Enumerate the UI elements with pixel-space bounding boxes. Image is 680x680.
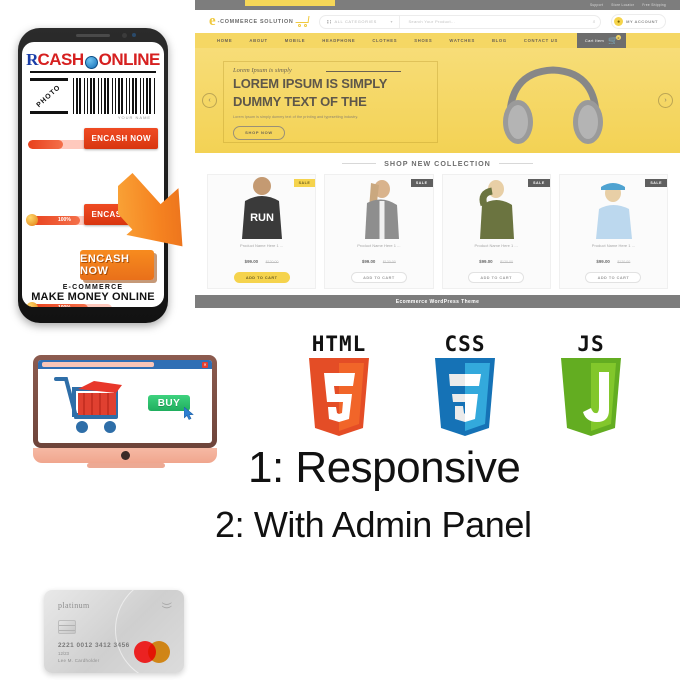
status-badge: SALE xyxy=(411,179,433,187)
add-to-cart-button[interactable]: ADD TO CART xyxy=(234,272,290,283)
buy-button-label: BUY xyxy=(158,398,181,409)
product-name: Product Name Here 1 ... xyxy=(560,243,667,248)
html5-logo-icon xyxy=(303,358,375,438)
pointing-arrow-icon xyxy=(118,165,198,260)
monitor-base xyxy=(87,463,165,468)
close-icon[interactable]: ✕ xyxy=(202,362,208,368)
hero-script-text: Lorem Ipsum is simply xyxy=(233,67,433,74)
price-old: $120.00 xyxy=(500,260,513,264)
site-logo[interactable]: e -COMMERCE SOLUTION xyxy=(209,14,309,29)
product-card[interactable]: SALE RUN Product Name Here 1 ... $99.00 … xyxy=(207,174,316,289)
product-grid: SALE RUN Product Name Here 1 ... $99.00 … xyxy=(195,168,680,289)
site-navigation: HOME ABOUT MOBILE HEADPHONE CLOTHES SHOE… xyxy=(195,33,680,48)
search-icon[interactable]: ⌕ xyxy=(588,19,600,25)
css3-logo-icon xyxy=(429,358,501,438)
topbar-link-support[interactable]: Support xyxy=(590,3,603,7)
nav-item-blog[interactable]: BLOG xyxy=(492,38,507,43)
topbar-link-store-locator[interactable]: Store Locator xyxy=(611,3,634,7)
logo-cash: CASH xyxy=(37,50,83,70)
topbar-link-free-shipping[interactable]: Free Shipping xyxy=(642,3,666,7)
category-select[interactable]: ALL CATEGORIES ▾ xyxy=(320,16,400,28)
status-badge: SALE xyxy=(528,179,550,187)
product-name: Product Name Here 1 ... xyxy=(443,243,550,248)
card-expiry: 12/23 xyxy=(58,651,69,656)
collection-title-text: SHOP NEW COLLECTION xyxy=(384,159,491,168)
id-card: PHOTO YOUR NAME xyxy=(22,73,164,120)
my-account-label: MY ACCOUNT xyxy=(626,19,658,24)
logo-mark: e xyxy=(209,14,216,29)
feature-line-2: 2: With Admin Panel xyxy=(215,504,532,546)
feature-line-1: 1: Responsive xyxy=(248,443,520,493)
shop-now-button[interactable]: SHOP NOW xyxy=(233,126,285,140)
browser-bar: ✕ xyxy=(38,360,212,369)
mastercard-icon xyxy=(134,641,172,663)
my-account-button[interactable]: ● MY ACCOUNT xyxy=(611,14,666,29)
search-input[interactable]: Search Your Product... xyxy=(400,19,588,24)
user-icon: ● xyxy=(614,17,623,26)
chevron-down-icon: ▾ xyxy=(390,19,392,24)
globe-icon xyxy=(85,56,98,69)
headphones-icon xyxy=(498,58,608,146)
product-name: Product Name Here 1 ... xyxy=(208,243,315,248)
barcode-icon xyxy=(73,78,156,114)
logo-r: R xyxy=(26,50,37,70)
price-current: $99.00 xyxy=(479,259,492,264)
make-money-online-label: MAKE MONEY ONLINE xyxy=(22,291,164,303)
nav-item-contact-us[interactable]: CONTACT US xyxy=(524,38,558,43)
desktop-monitor-mockup: ✕ BUY xyxy=(25,355,225,470)
product-price: $99.00 $120.00 xyxy=(325,250,432,268)
nav-item-shoes[interactable]: SHOES xyxy=(414,38,432,43)
phone-camera-icon xyxy=(122,33,127,38)
progress-label: 100% xyxy=(58,217,71,223)
html5-logo: HTML xyxy=(300,332,378,444)
ecommerce-website-mockup: Support Store Locator Free Shipping e -C… xyxy=(195,0,680,330)
product-price: $99.00 $120.00 xyxy=(208,250,315,268)
logo-online: ONLINE xyxy=(99,50,160,70)
grid-icon xyxy=(327,20,331,24)
cart-label: Cart Item xyxy=(585,38,604,43)
site-footer: Ecommerce WordPress Theme xyxy=(195,295,680,308)
progress-label: 100% xyxy=(58,305,71,307)
cart-icon xyxy=(296,16,309,27)
site-header: e -COMMERCE SOLUTION ALL CATEGORIES ▾ Se… xyxy=(195,10,680,33)
price-old: $120.00 xyxy=(383,260,396,264)
tech-logos: HTML CSS JS xyxy=(300,332,680,444)
browser-tab xyxy=(42,362,154,367)
nav-item-mobile[interactable]: MOBILE xyxy=(285,38,305,43)
phone-footer: E-COMMERCE MAKE MONEY ONLINE xyxy=(22,284,164,303)
credit-card: platinum )) 2221 0012 3412 3456 12/23 Le… xyxy=(44,590,184,673)
html5-label: HTML xyxy=(300,332,378,356)
monitor-power-button xyxy=(121,451,130,460)
svg-text:RUN: RUN xyxy=(250,212,274,224)
mouse-cursor-icon xyxy=(184,407,194,420)
chevron-left-icon[interactable]: ‹ xyxy=(202,93,217,108)
hero-heading-line1: LOREM IPSUM IS SIMPLY xyxy=(233,77,433,92)
collection-title: SHOP NEW COLLECTION xyxy=(195,159,680,168)
site-topbar: Support Store Locator Free Shipping xyxy=(195,0,680,10)
encash-now-button[interactable]: ENCASH NOW xyxy=(84,128,158,149)
product-price: $99.00 $120.00 xyxy=(560,250,667,268)
add-to-cart-button[interactable]: ADD TO CART xyxy=(351,272,407,283)
shopping-cart-icon: 🛒 0 xyxy=(608,36,618,45)
photo-placeholder: PHOTO xyxy=(30,78,68,114)
chip-icon xyxy=(58,620,76,634)
price-current: $99.00 xyxy=(245,259,258,264)
price-old: $120.00 xyxy=(266,260,279,264)
js-label: JS xyxy=(552,332,630,356)
category-select-label: ALL CATEGORIES xyxy=(334,19,387,24)
site-footer-text: Ecommerce WordPress Theme xyxy=(396,299,480,305)
status-badge: SALE xyxy=(294,179,316,187)
cart-count-badge: 0 xyxy=(616,35,621,40)
javascript-logo: JS xyxy=(552,332,630,444)
encash-now-cta-label: ENCASH NOW xyxy=(80,253,154,277)
encash-now-cta-button[interactable]: ENCASH NOW xyxy=(80,250,154,280)
cash-online-logo: R CASH ONLINE xyxy=(22,50,164,70)
product-price: $99.00 $120.00 xyxy=(443,250,550,268)
cart-button[interactable]: Cart Item 🛒 0 xyxy=(577,33,626,48)
javascript-logo-icon xyxy=(555,358,627,438)
coin-icon xyxy=(26,214,38,226)
card-brand-text: platinum xyxy=(58,601,90,610)
photo-label: PHOTO xyxy=(36,83,63,108)
add-to-cart-button[interactable]: ADD TO CART xyxy=(468,272,524,283)
css3-logo: CSS xyxy=(426,332,504,444)
product-card[interactable]: SALE Product Name Here 1 ... $99.00 $120… xyxy=(324,174,433,289)
card-holder-name: Lee M. Cardholder xyxy=(58,658,99,663)
price-current: $99.00 xyxy=(596,259,609,264)
nav-item-about[interactable]: ABOUT xyxy=(249,38,267,43)
ecommerce-label: E-COMMERCE xyxy=(22,284,164,291)
phone-sensor-icon xyxy=(132,33,136,37)
hero-banner: Lorem Ipsum is simply LOREM IPSUM IS SIM… xyxy=(195,48,680,153)
contactless-icon: )) xyxy=(161,602,172,609)
nav-item-watches[interactable]: WATCHES xyxy=(449,38,475,43)
status-badge: SALE xyxy=(645,179,667,187)
chevron-right-icon[interactable]: › xyxy=(658,93,673,108)
product-card[interactable]: SALE Product Name Here 1 ... $99.00 $120… xyxy=(559,174,668,289)
shopping-cart-illustration xyxy=(54,375,132,437)
nav-item-headphone[interactable]: HEADPHONE xyxy=(322,38,355,43)
product-name: Product Name Here 1 ... xyxy=(325,243,432,248)
css3-label: CSS xyxy=(426,332,504,356)
logo-text: -COMMERCE SOLUTION xyxy=(218,19,294,25)
nav-item-home[interactable]: HOME xyxy=(217,38,232,43)
card-number: 2221 0012 3412 3456 xyxy=(58,642,130,649)
hero-paragraph: Lorem Ipsum is simply dummy text of the … xyxy=(233,115,433,119)
product-card[interactable]: SALE Product Name Here 1 ... $99.00 $120… xyxy=(442,174,551,289)
search-bar[interactable]: ALL CATEGORIES ▾ Search Your Product... … xyxy=(319,15,601,29)
shop-new-collection-section: SHOP NEW COLLECTION SALE RUN Product Nam… xyxy=(195,153,680,289)
add-to-cart-button[interactable]: ADD TO CART xyxy=(585,272,641,283)
gig-thumbnail: R CASH ONLINE PHOTO YOUR NAME ENCASH NOW xyxy=(0,0,680,680)
phone-speaker xyxy=(76,34,110,37)
price-old: $120.00 xyxy=(617,260,630,264)
hero-heading-line2: DUMMY TEXT OF THE xyxy=(233,95,433,110)
topbar-accent xyxy=(245,0,335,6)
nav-item-clothes[interactable]: CLOTHES xyxy=(372,38,397,43)
price-current: $99.00 xyxy=(362,259,375,264)
